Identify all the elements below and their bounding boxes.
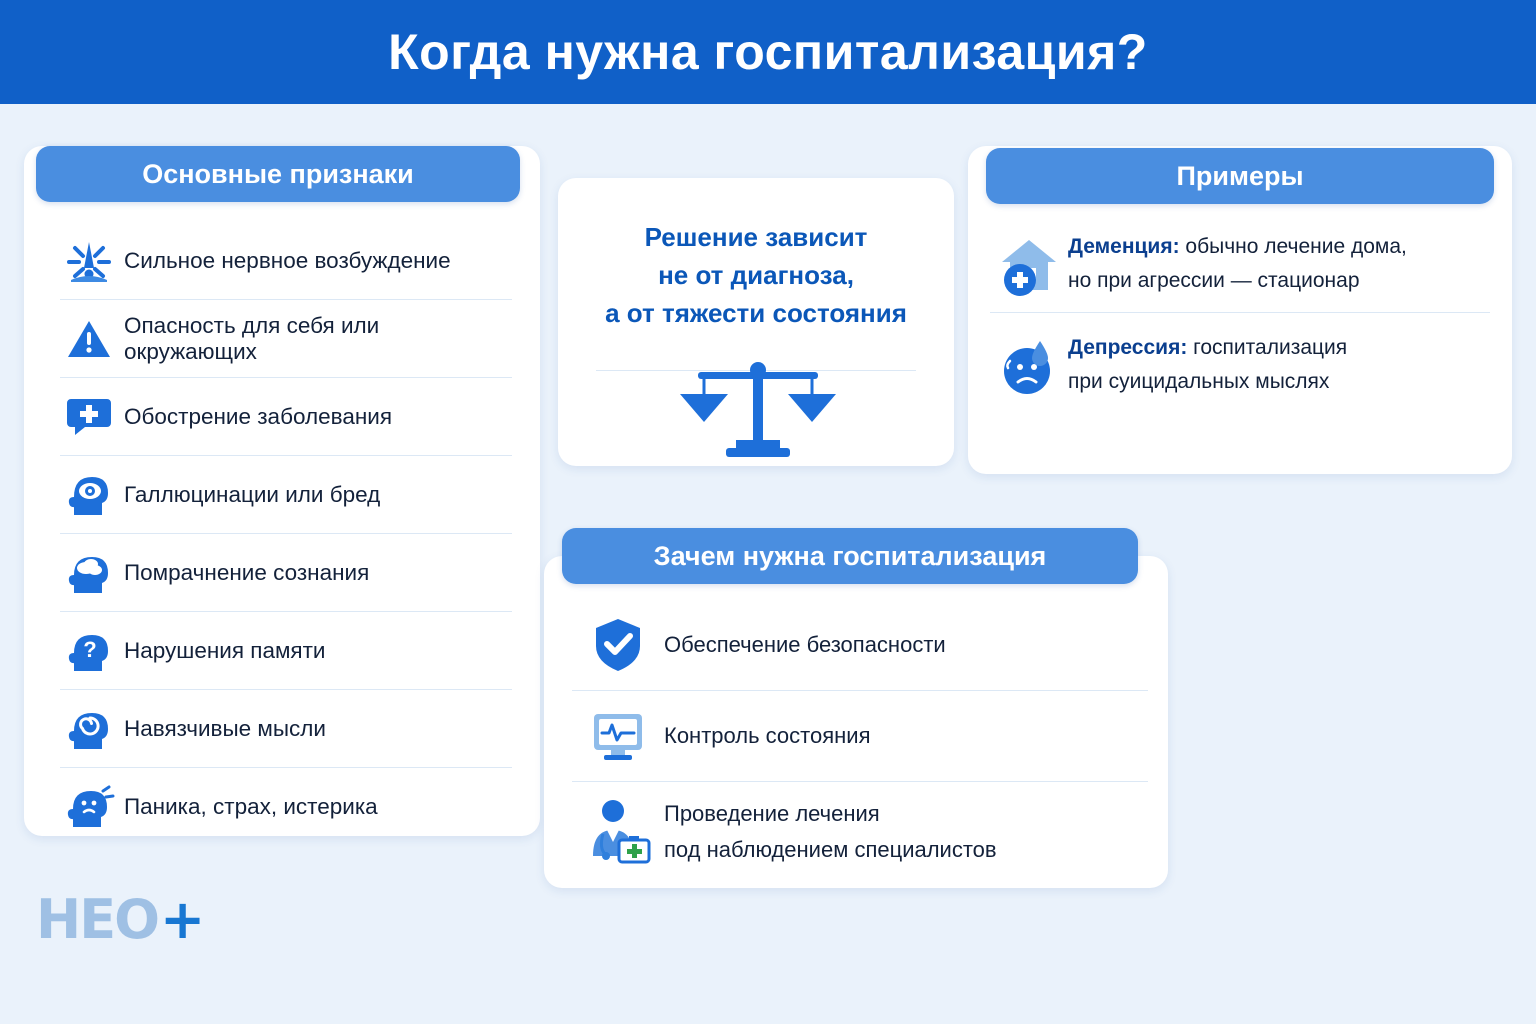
decision-line-3: а от тяжести состояния <box>578 294 934 332</box>
shield-check-icon <box>572 616 664 674</box>
list-item[interactable]: Навязчивые мысли <box>60 690 512 768</box>
list-item-label: Галлюцинации или бред <box>118 482 380 508</box>
list-item-label: Навязчивые мысли <box>118 716 326 742</box>
list-item-label: Паника, страх, истерика <box>118 794 378 820</box>
list-item[interactable]: Сильное нервное возбуждение <box>60 222 512 300</box>
main-signs-list: Сильное нервное возбуждение Опасность дл… <box>60 222 512 845</box>
monitor-pulse-icon <box>572 708 664 764</box>
list-item[interactable]: Контроль состояния <box>572 691 1148 782</box>
head-panic-icon <box>60 783 118 831</box>
main-signs-title: Основные признаки <box>36 146 520 202</box>
head-question-icon: ? <box>60 627 118 675</box>
example-term: Депрессия: <box>1068 336 1187 359</box>
list-item[interactable]: Деменция: обычно лечение дома, но при аг… <box>990 222 1490 313</box>
list-item[interactable]: Паника, страх, истерика <box>60 768 512 845</box>
decision-text: Решение зависит не от диагноза, а от тяж… <box>578 218 934 332</box>
list-item-label: Проведение лечения под наблюдением специ… <box>664 796 997 868</box>
example-text-1: обычно лечение дома, <box>1180 235 1407 258</box>
example-text-2: при суицидальных мыслях <box>1068 370 1329 393</box>
speech-bubble-cross-icon <box>60 395 118 439</box>
logo: HEO + <box>36 888 256 950</box>
list-item-label: Обострение заболевания <box>118 404 392 430</box>
page-header: Когда нужна госпитализация? <box>0 0 1536 104</box>
why-list: Обеспечение безопасности Контроль состоя… <box>572 600 1148 882</box>
example-term: Деменция: <box>1068 235 1180 258</box>
sad-face-drop-icon <box>990 331 1068 399</box>
head-eye-icon <box>60 471 118 519</box>
page-title: Когда нужна госпитализация? <box>388 23 1148 81</box>
scales-balance-icon <box>658 360 858 470</box>
why-line-2: под наблюдением специалистов <box>664 837 997 862</box>
logo-text: HEO <box>36 888 158 951</box>
list-item[interactable]: Обеспечение безопасности <box>572 600 1148 691</box>
decision-line-1: Решение зависит <box>578 218 934 256</box>
list-item[interactable]: Помрачнение сознания <box>60 534 512 612</box>
svg-text:?: ? <box>83 637 96 662</box>
list-item[interactable]: Галлюцинации или бред <box>60 456 512 534</box>
head-spiral-icon <box>60 705 118 753</box>
list-item[interactable]: Обострение заболевания <box>60 378 512 456</box>
examples-title: Примеры <box>986 148 1494 204</box>
examples-list: Деменция: обычно лечение дома, но при аг… <box>990 222 1490 413</box>
list-item[interactable]: Депрессия: госпитализация при суицидальн… <box>990 313 1490 413</box>
list-item-label: Обеспечение безопасности <box>664 627 946 663</box>
list-item-label: Деменция: обычно лечение дома, но при аг… <box>1068 230 1407 298</box>
example-text-2: но при агрессии — стационар <box>1068 269 1360 292</box>
home-medical-icon <box>990 230 1068 298</box>
decision-line-2: не от диагноза, <box>578 256 934 294</box>
burst-exclamation-icon <box>60 238 118 284</box>
warning-triangle-icon <box>60 318 118 360</box>
head-cloud-icon <box>60 549 118 597</box>
why-title: Зачем нужна госпитализация <box>562 528 1138 584</box>
list-item-label: Сильное нервное возбуждение <box>118 248 451 274</box>
list-item[interactable]: ? Нарушения памяти <box>60 612 512 690</box>
doctor-icon <box>572 796 664 868</box>
list-item[interactable]: Проведение лечения под наблюдением специ… <box>572 782 1148 882</box>
list-item-label: Депрессия: госпитализация при суицидальн… <box>1068 331 1347 399</box>
list-item[interactable]: Опасность для себя или окружающих <box>60 300 512 378</box>
why-line-1: Проведение лечения <box>664 801 880 826</box>
list-item-label: Помрачнение сознания <box>118 560 369 586</box>
logo-plus-icon: + <box>160 888 205 951</box>
list-item-label: Опасность для себя или окружающих <box>118 313 512 365</box>
example-text-1: госпитализация <box>1187 336 1347 359</box>
list-item-label: Контроль состояния <box>664 718 871 754</box>
list-item-label: Нарушения памяти <box>118 638 326 664</box>
